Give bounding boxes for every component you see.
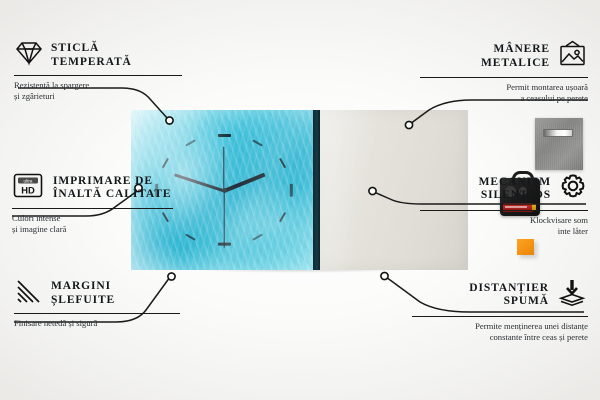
feature-foam-spacer[interactable]: DISTANȚIER SPUMĂ Permite menținerea unei… [396,278,588,342]
glass-edge [313,110,320,270]
feature-title-line2: ȘLEFUITE [51,294,115,308]
svg-text:ultra: ultra [24,179,33,184]
feature-subtitle-line1: Culori intense [12,213,194,224]
clock-tick [218,134,231,137]
framed-picture-hanger-icon [557,40,588,73]
hanger-keyhole-slot [543,129,573,137]
feature-subtitle-line1: Permite menținerea unei distanțe [396,321,588,332]
feature-subtitle-line2: inte låter [404,226,588,237]
feature-title-line1: MECANISM [479,176,551,190]
feature-title-line2: TEMPERATĂ [51,56,132,70]
feature-title-line1: MARGINI [51,280,115,294]
diamond-icon [14,40,44,71]
feature-subtitle-line1: Klockvisare som [404,215,588,226]
feature-subtitle-line1: Finisare netedă și sigură [14,318,194,329]
feature-polished-edges[interactable]: MARGINI ȘLEFUITE Finisare netedă și sigu… [14,278,194,329]
clock-tick [252,233,263,240]
feature-title-line1: IMPRIMARE DE [53,175,171,189]
feature-title-line2: SILENȚIOS [479,189,551,203]
feature-subtitle-line2: constante între ceas și perete [396,332,588,343]
ultra-hd-badge-icon: ultra HD [12,172,46,204]
feature-divider [420,77,588,78]
feature-title-line1: MÂNERE [481,43,550,57]
clock-tick [218,243,231,246]
metal-hanger-plate [535,118,583,170]
clock-tick [290,184,293,197]
feature-subtitle-line1: Permit montarea ușoară [404,82,588,93]
clock-tick [279,212,286,223]
clock-tick [279,157,286,168]
feature-divider [412,316,588,317]
clock-second-hand-tail [223,146,224,190]
feature-tempered-glass[interactable]: STICLĂ TEMPERATĂ Rezistentă la spargere … [14,40,190,101]
feature-metal-hangers[interactable]: MÂNERE METALICE Permit montarea ușoară a… [404,40,588,103]
product-feature-poster: STICLĂ TEMPERATĂ Rezistentă la spargere … [0,0,600,400]
foam-spacer-pad [517,239,534,255]
svg-text:HD: HD [21,185,35,196]
feature-subtitle-line2: a ceasului pe perete [404,93,588,104]
clock-tick [185,139,196,146]
feature-silent-mechanism[interactable]: MECANISM SILENȚIOS Klockvisare som inte … [404,172,588,236]
feature-title-line1: STICLĂ [51,42,132,56]
clock-tick [252,139,263,146]
feature-divider [14,313,180,314]
feature-divider [420,210,588,211]
feature-title-line1: DISTANȚIER [469,282,549,296]
feature-subtitle-line2: și zgârieturi [14,91,190,102]
feature-subtitle-line2: și imagine clară [12,224,194,235]
feature-title-line2: METALICE [481,57,550,71]
feature-title-line2: SPUMĂ [469,295,549,309]
clock-center-hub [222,188,227,193]
feature-high-quality-print[interactable]: ultra HD IMPRIMARE DE ÎNALTĂ CALITATE Cu… [12,172,194,234]
diagonal-lines-icon [14,278,44,309]
clock-tick [162,157,169,168]
gear-icon [558,172,588,206]
feature-divider [12,208,173,209]
clock-tick [185,233,196,240]
feature-title-line2: ÎNALTĂ CALITATE [53,188,171,202]
feature-subtitle-line1: Rezistentă la spargere [14,80,190,91]
feature-divider [14,75,182,76]
arrow-onto-layers-icon [556,278,588,312]
clock-second-hand [223,190,224,247]
clock-hour-hand [223,172,265,192]
